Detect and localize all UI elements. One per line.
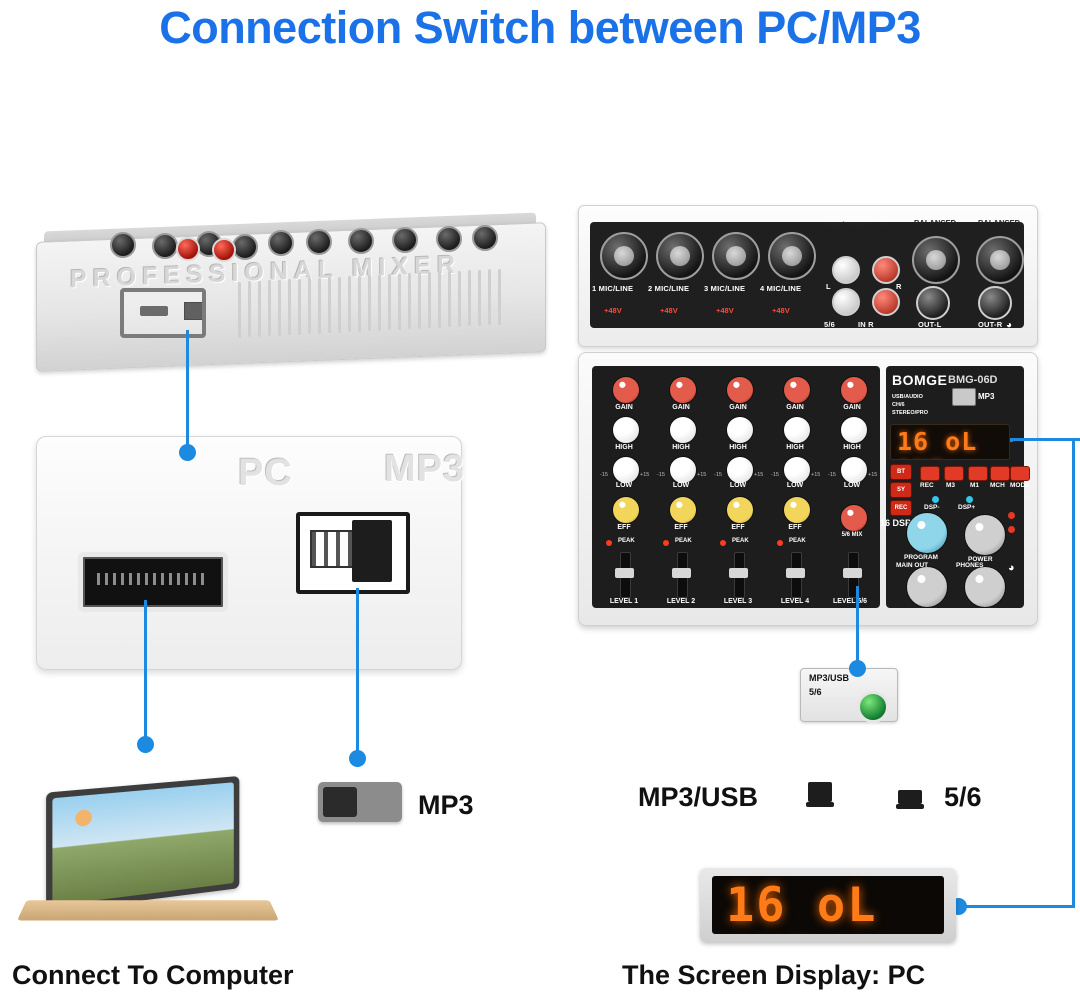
headphone-icon: ◕ [1008, 562, 1015, 574]
gain-knob[interactable] [612, 376, 640, 404]
wire-hdmi-to-laptop [144, 600, 147, 742]
rec-pad[interactable] [920, 466, 940, 481]
vent-slot [328, 277, 331, 333]
vent-slot [438, 272, 441, 328]
screen-display-text: 16 oL 1NE [726, 878, 944, 934]
scale-min: -15 [714, 472, 722, 478]
phantom-label-3: +48V [716, 306, 734, 315]
level-fader-knob[interactable] [843, 568, 862, 578]
level-fader-knob[interactable] [786, 568, 805, 578]
hdmi-port[interactable] [78, 552, 228, 612]
peak-label: PEAK [777, 538, 829, 544]
right-caption: The Screen Display: PC [622, 960, 925, 991]
vent-slot [468, 270, 471, 326]
rca-jack-left-2[interactable] [832, 288, 860, 316]
rear-knob[interactable] [472, 225, 498, 251]
low-knob[interactable] [669, 456, 697, 484]
headphone-icon: ◕ [1006, 320, 1012, 331]
usb-audio-label: USB/AUDIO [892, 394, 923, 400]
vent-slot [488, 269, 491, 325]
wire-dot [349, 750, 366, 767]
xlr-input-4[interactable] [768, 232, 816, 280]
gain-label: GAIN [832, 404, 872, 411]
stereo-pro-label: STEREO/PRO [892, 410, 928, 416]
m1-pad[interactable] [968, 466, 988, 481]
five-six-text: 5/6 [944, 782, 982, 813]
high-knob[interactable] [840, 416, 868, 444]
laptop-keyboard-base [17, 900, 279, 920]
eff-label: EFF [775, 524, 815, 531]
mix-label: 5/6 MIX [832, 532, 872, 538]
model-label: BMG-06D [948, 374, 998, 386]
wire-display-bottom [958, 905, 1074, 908]
gain-label: GAIN [604, 404, 644, 411]
level-fader-knob[interactable] [672, 568, 691, 578]
switch-base-icon-2 [896, 804, 924, 809]
power-knob[interactable] [964, 514, 1006, 556]
low-label: LOW [718, 482, 758, 489]
scale-min: -15 [828, 472, 836, 478]
high-label: HIGH [718, 444, 758, 451]
scale-max: +15 [697, 472, 706, 478]
phantom-label-4: +48V [772, 306, 790, 315]
in-r-label: IN R [858, 320, 874, 329]
wire-dot [849, 660, 866, 677]
rca-jack-right[interactable] [872, 256, 900, 284]
channel-strip-3: GAIN HIGH -15 +15 LOW EFF PEAK LEVEL 3 [714, 372, 769, 604]
port-highlight-box [120, 288, 206, 338]
rca-jack-right-2[interactable] [872, 288, 900, 316]
laptop-wallpaper [52, 782, 233, 905]
vent-slot [248, 281, 251, 337]
vent-slot [308, 278, 311, 334]
high-knob[interactable] [612, 416, 640, 444]
mch-pad[interactable] [990, 466, 1010, 481]
mch-pad-label: MCH [990, 482, 1005, 489]
channel-strip-4: GAIN HIGH -15 +15 LOW EFF PEAK LEVEL 4 [771, 372, 826, 604]
vent-slot [498, 269, 501, 325]
out-l-label: OUT-L [918, 320, 942, 329]
wallpaper-sun-icon [75, 809, 91, 827]
vent-slot [278, 280, 281, 336]
phones-knob[interactable] [964, 566, 1006, 608]
rear-knob[interactable] [306, 229, 332, 255]
rear-red-knob[interactable] [212, 238, 236, 262]
mix-knob[interactable] [840, 504, 868, 532]
status-led [1008, 526, 1015, 533]
page-title: Connection Switch between PC/MP3 [0, 2, 1080, 54]
wire-dot [137, 736, 154, 753]
sy-button[interactable]: SY [890, 482, 912, 498]
vent-slot [288, 279, 291, 335]
dsp-plus-label: DSP+ [958, 504, 975, 511]
rear-red-knob[interactable] [176, 237, 200, 261]
channel-strip-2: GAIN HIGH -15 +15 LOW EFF PEAK LEVEL 2 [657, 372, 712, 604]
callout-mp3-usb-label: MP3/USB [809, 673, 849, 683]
main-out-label: MAIN OUT [896, 562, 928, 569]
in-56-label: 5/6 [824, 320, 835, 329]
high-knob[interactable] [669, 416, 697, 444]
phantom-label-2: +48V [660, 306, 678, 315]
low-knob[interactable] [726, 456, 754, 484]
low-label: LOW [775, 482, 815, 489]
pc-label: PC [238, 452, 293, 495]
wire-display-v [1072, 438, 1075, 908]
low-knob[interactable] [840, 456, 868, 484]
rec-pad-label: REC [920, 482, 934, 489]
wire-dot [179, 444, 196, 461]
high-knob[interactable] [783, 416, 811, 444]
low-label: LOW [604, 482, 644, 489]
eff-knob[interactable] [612, 496, 640, 524]
xlr-input-2[interactable] [656, 232, 704, 280]
scale-max: +15 [868, 472, 877, 478]
scale-max: +15 [640, 472, 649, 478]
eff-label: EFF [661, 524, 701, 531]
m1-pad-label: M1 [970, 482, 979, 489]
high-label: HIGH [604, 444, 644, 451]
xlr-input-1[interactable] [600, 232, 648, 280]
mixer-display-text: 16 oL 1NE [897, 427, 1009, 460]
laptop-screen [46, 776, 239, 913]
program-knob[interactable] [906, 512, 948, 554]
switch-up-icon [808, 782, 832, 802]
vent-slot [298, 279, 301, 335]
mp3-switch[interactable] [318, 782, 402, 822]
phones-label: PHONES [956, 562, 983, 569]
dsp-minus-label: DSP- [924, 504, 940, 511]
m3-pad-label: M3 [946, 482, 955, 489]
vent-slot [258, 281, 261, 337]
rca-r-label: R [896, 282, 902, 291]
mp3-usb-text: MP3/USB [638, 782, 758, 813]
dsp-minus-led [932, 496, 939, 503]
gain-knob[interactable] [840, 376, 868, 404]
vent-slot [398, 274, 401, 330]
switch-down-icon [898, 790, 922, 804]
ch6-label: CH/6 [892, 402, 905, 408]
brand-label: BOMGE [892, 372, 947, 388]
m3-pad[interactable] [944, 466, 964, 481]
level-fader-knob[interactable] [729, 568, 748, 578]
eff-knob[interactable] [726, 496, 754, 524]
eff-knob[interactable] [783, 496, 811, 524]
low-label: LOW [661, 482, 701, 489]
power-led [1008, 512, 1015, 519]
mode-pad[interactable] [1010, 466, 1030, 481]
level-fader-knob[interactable] [615, 568, 634, 578]
peak-label: PEAK [663, 538, 715, 544]
diagram-root: Connection Switch between PC/MP3 PROFESS… [0, 0, 1080, 1007]
rca-jack-left[interactable] [832, 256, 860, 284]
vent-slot [418, 273, 421, 329]
vent-slot [368, 275, 371, 331]
level-label: LEVEL 1 [604, 598, 644, 605]
gain-label: GAIN [718, 404, 758, 411]
low-label: LOW [832, 482, 872, 489]
mp3-label: MP3 [384, 448, 465, 491]
bt-button[interactable]: BT [890, 464, 912, 480]
rear-knob[interactable] [232, 234, 258, 260]
io-label-ch4: 4 MIC/LINE [760, 284, 801, 293]
peak-label: PEAK [606, 538, 658, 544]
eff-label: EFF [718, 524, 758, 531]
eff-knob[interactable] [669, 496, 697, 524]
scale-max: +15 [811, 472, 820, 478]
high-label: HIGH [661, 444, 701, 451]
rear-knob[interactable] [436, 226, 462, 252]
io-label-ch1: 1 MIC/LINE [592, 284, 633, 293]
peak-label: PEAK [720, 538, 772, 544]
vent-slot [428, 272, 431, 328]
vent-slot [338, 277, 341, 333]
vent-slot [408, 273, 411, 329]
io-label-ch2: 2 MIC/LINE [648, 284, 689, 293]
scale-min: -15 [600, 472, 608, 478]
mixer-display: 16 oL 1NE [890, 424, 1010, 460]
usb-a-port[interactable] [952, 388, 976, 406]
wire-usb-to-mp3 [356, 588, 359, 756]
usb-mp3-label: MP3 [978, 392, 994, 401]
low-knob[interactable] [783, 456, 811, 484]
gain-label: GAIN [661, 404, 701, 411]
rca-l-label: L [826, 282, 831, 291]
level-label: LEVEL 4 [775, 598, 815, 605]
vent-slot [448, 271, 451, 327]
rec-button[interactable]: REC [890, 500, 912, 516]
usb-port-shadow [352, 520, 392, 582]
green-jack[interactable] [857, 691, 889, 723]
wire-display-h [1010, 438, 1080, 441]
vent-slot [318, 278, 321, 334]
program-label: PROGRAM [904, 554, 938, 561]
trs-out-right[interactable] [978, 286, 1012, 320]
vent-slot [238, 282, 241, 338]
rear-knob[interactable] [348, 228, 374, 254]
high-label: HIGH [775, 444, 815, 451]
mp3-usb-switch-callout: MP3/USB 5/6 [800, 668, 898, 722]
rear-knob[interactable] [110, 232, 136, 258]
scale-max: +15 [754, 472, 763, 478]
xlr-output-left[interactable] [912, 236, 960, 284]
switch-base-icon [806, 802, 834, 807]
vent-slot [378, 275, 381, 331]
left-caption: Connect To Computer [12, 960, 293, 991]
level-label: LEVEL 3 [718, 598, 758, 605]
vent-slot [458, 271, 461, 327]
vent-slot [348, 276, 351, 332]
wire-rear-to-zoom [186, 330, 189, 450]
xlr-output-right[interactable] [976, 236, 1024, 284]
gain-knob[interactable] [783, 376, 811, 404]
vent-slot [358, 276, 361, 332]
io-label-ch3: 3 MIC/LINE [704, 284, 745, 293]
scale-min: -15 [771, 472, 779, 478]
high-label: HIGH [832, 444, 872, 451]
rec-stereo-out-label: REC/STEREO OUT [826, 220, 893, 229]
main-out-knob[interactable] [906, 566, 948, 608]
phantom-label-1: +48V [604, 306, 622, 315]
vent-slot [268, 280, 271, 336]
gain-label: GAIN [775, 404, 815, 411]
level-label: LEVEL 2 [661, 598, 701, 605]
level-label: LEVEL 5/6 [830, 598, 870, 605]
channel-strip-5-6: GAIN HIGH -15 +15 LOW 5/6 MIX LEVEL 5/6 [828, 372, 883, 604]
vent-slot [478, 270, 481, 326]
low-knob[interactable] [612, 456, 640, 484]
rear-knob[interactable] [392, 227, 418, 253]
vent-slot [388, 274, 391, 330]
scale-min: -15 [657, 472, 665, 478]
channel-strip-1: GAIN HIGH -15 +15 LOW EFF PEAK LEVEL 1 [600, 372, 655, 604]
gain-knob[interactable] [669, 376, 697, 404]
balanced-right-label: BALANCED [978, 218, 1020, 227]
high-knob[interactable] [726, 416, 754, 444]
screen-display: 16 oL 1NE [712, 876, 944, 934]
eff-label: EFF [604, 524, 644, 531]
rear-knob[interactable] [152, 233, 178, 259]
balanced-left-label: BALANCED [914, 218, 956, 227]
rear-knob[interactable] [268, 230, 294, 256]
mp3-switch-label: MP3 [418, 790, 474, 821]
wire-face-to-callout [856, 586, 859, 668]
out-r-label: OUT-R [978, 320, 1002, 329]
dsp-plus-led [966, 496, 973, 503]
gain-knob[interactable] [726, 376, 754, 404]
mode-pad-label: MODE [1010, 482, 1030, 489]
xlr-input-3[interactable] [712, 232, 760, 280]
callout-56-label: 5/6 [809, 687, 822, 697]
trs-out-left[interactable] [916, 286, 950, 320]
